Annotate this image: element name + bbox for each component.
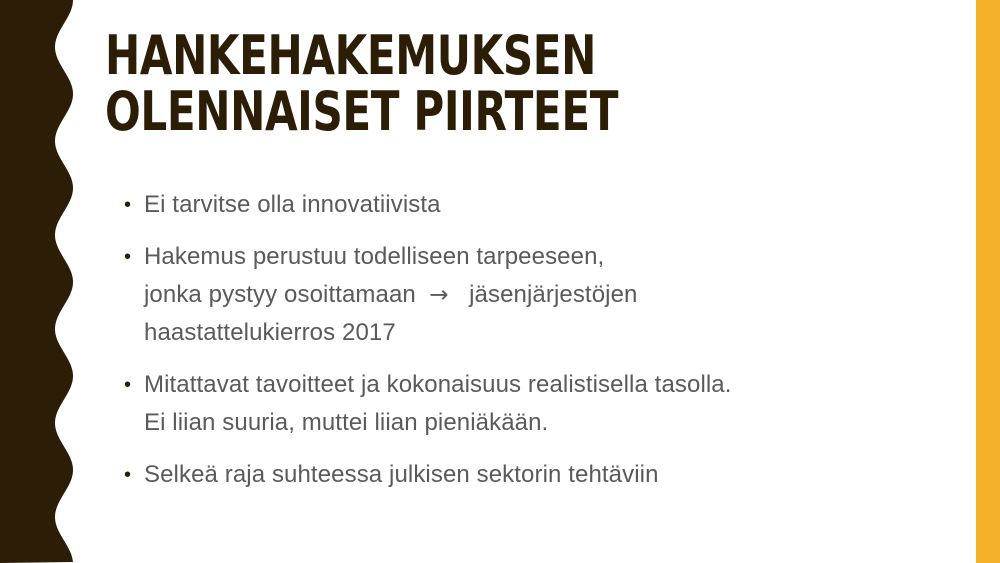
bullet-marker-icon: •	[124, 366, 140, 404]
bullet-line: jonka pystyy osoittamaan → jäsenjärjestö…	[144, 276, 880, 314]
bullet-text: Hakemus perustuu todelliseen tarpeeseen,…	[144, 238, 880, 352]
bullet-line: Selkeä raja suhteessa julkisen sektorin …	[144, 456, 880, 494]
bullet-item: •Ei tarvitse olla innovatiivista	[120, 186, 880, 224]
bullet-text: Selkeä raja suhteessa julkisen sektorin …	[144, 456, 880, 494]
bullet-line: Ei tarvitse olla innovatiivista	[144, 186, 880, 224]
bullet-line: Ei liian suuria, muttei liian pieniäkään…	[144, 404, 880, 442]
bullet-text: Ei tarvitse olla innovatiivista	[144, 186, 880, 224]
slide-title: HANKEHAKEMUKSEN OLENNAISET PIIRTEET	[105, 28, 805, 140]
bullet-item: •Mitattavat tavoitteet ja kokonaisuus re…	[120, 366, 880, 442]
bullet-line: Hakemus perustuu todelliseen tarpeeseen,	[144, 238, 880, 276]
right-accent-bar	[976, 0, 1000, 563]
slide-body-bullet-list: •Ei tarvitse olla innovatiivista•Hakemus…	[120, 186, 880, 494]
bullet-line: haastattelukierros 2017	[144, 314, 880, 352]
bullet-marker-icon: •	[124, 456, 140, 494]
bullet-marker-icon: •	[124, 186, 140, 224]
title-line-1: HANKEHAKEMUKSEN	[105, 28, 651, 84]
bullet-text: Mitattavat tavoitteet ja kokonaisuus rea…	[144, 366, 880, 442]
right-arrow-icon: →	[429, 282, 448, 308]
wave-shape	[0, 0, 73, 563]
bullet-item: •Hakemus perustuu todelliseen tarpeeseen…	[120, 238, 880, 352]
left-wave-decoration	[0, 0, 90, 563]
bullet-line: Mitattavat tavoitteet ja kokonaisuus rea…	[144, 366, 880, 404]
bullet-marker-icon: •	[124, 238, 140, 276]
presentation-slide: HANKEHAKEMUKSEN OLENNAISET PIIRTEET •Ei …	[0, 0, 1000, 563]
bullet-item: •Selkeä raja suhteessa julkisen sektorin…	[120, 456, 880, 494]
title-line-2: OLENNAISET PIIRTEET	[105, 84, 651, 140]
